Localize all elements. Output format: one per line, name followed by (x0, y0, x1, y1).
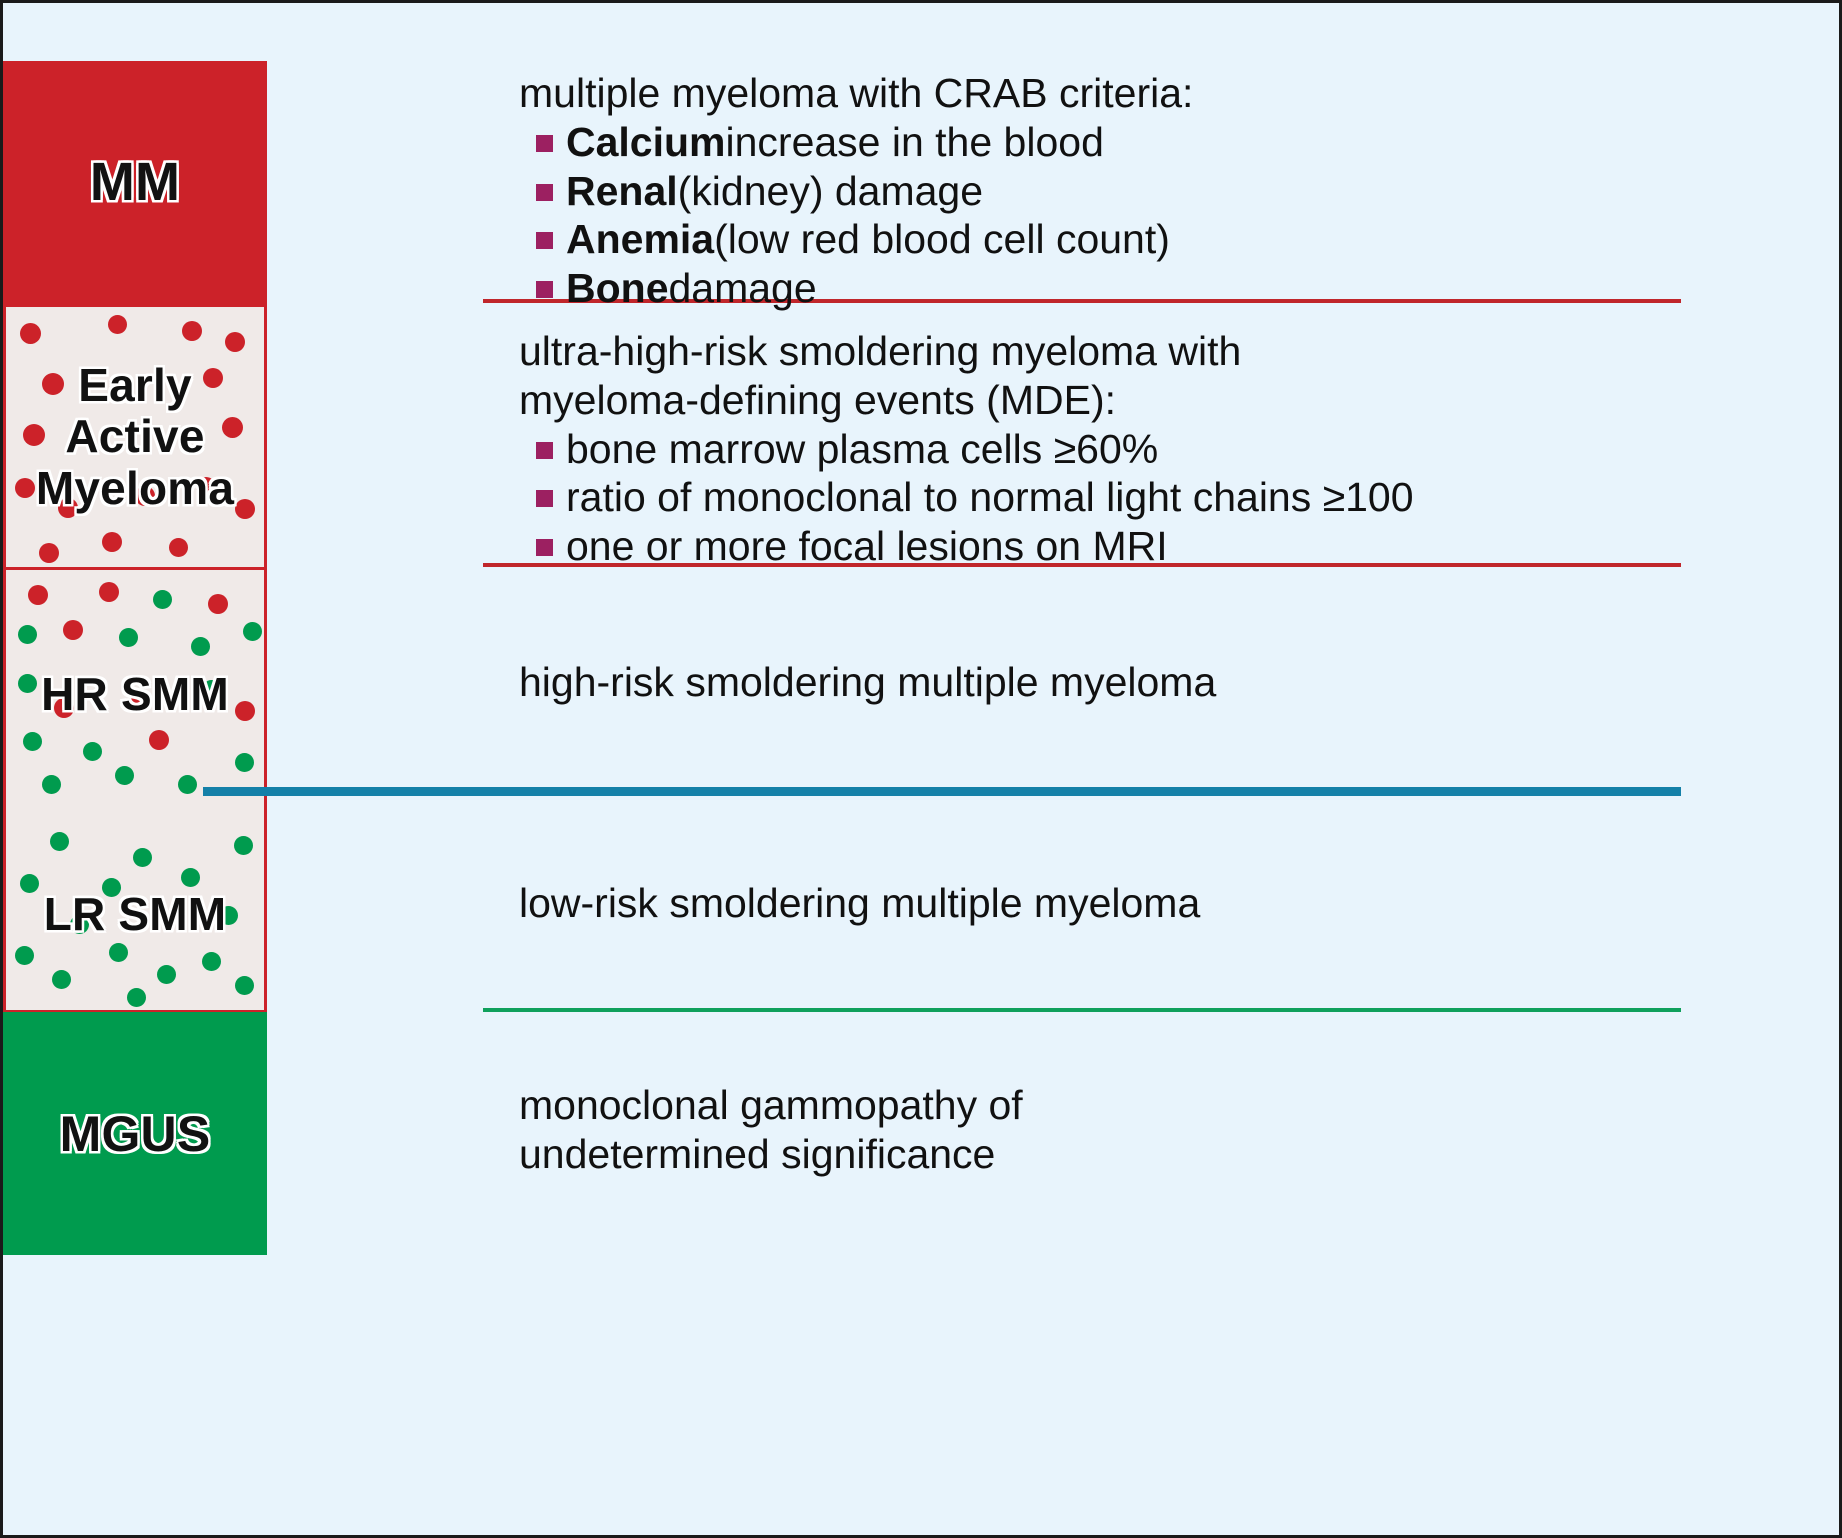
crab-bullet-calcium-text: increase in the blood (726, 118, 1104, 167)
description-mgus-line1: monoclonal gammopathy of (519, 1081, 1023, 1130)
crab-bullet-bone-term: Bone (566, 264, 669, 313)
stage-label-line: Early (36, 360, 234, 412)
divider-rule-risk-threshold (203, 787, 1681, 796)
description-mm: multiple myeloma with CRAB criteria: Cal… (519, 69, 1193, 313)
stage-block-hr-smm: HR SMM (3, 567, 267, 820)
bullet-square-icon (536, 232, 553, 249)
description-lr-smm: low-risk smoldering multiple myeloma (519, 879, 1200, 928)
crab-bullet-bone: Bone damage (519, 264, 1193, 313)
bullet-square-icon (536, 184, 553, 201)
bullet-square-icon (536, 490, 553, 507)
stage-label-early-active-myeloma: Early Active Myeloma (36, 360, 234, 515)
stage-label-line: Myeloma (36, 463, 234, 515)
description-heading-mm: multiple myeloma with CRAB criteria: (519, 69, 1193, 118)
crab-bullet-anemia-text: (low red blood cell count) (714, 215, 1170, 264)
mde-bullet-focal-lesions-text: one or more focal lesions on MRI (566, 522, 1168, 571)
mde-bullet-focal-lesions: one or more focal lesions on MRI (519, 522, 1414, 571)
description-heading-eam-line2: myeloma-defining events (MDE): (519, 376, 1414, 425)
description-early-active-myeloma: ultra-high-risk smoldering myeloma with … (519, 327, 1414, 571)
mde-bullet-plasma-cells: bone marrow plasma cells ≥60% (519, 425, 1414, 474)
stage-block-mgus: MGUS (3, 1012, 267, 1255)
bullet-square-icon (536, 539, 553, 556)
crab-bullet-calcium-term: Calcium (566, 118, 726, 167)
crab-bullet-anemia: Anemia (low red blood cell count) (519, 215, 1193, 264)
bullet-square-icon (536, 281, 553, 298)
stage-label-mgus: MGUS (60, 1106, 211, 1162)
crab-bullet-bone-text: damage (669, 264, 817, 313)
description-mgus: monoclonal gammopathy of undetermined si… (519, 1081, 1023, 1179)
stage-label-mm: MM (90, 152, 180, 212)
stage-label-hr-smm: HR SMM (41, 669, 229, 721)
description-heading-eam-line1: ultra-high-risk smoldering myeloma with (519, 327, 1414, 376)
diagram-canvas: MM multiple myeloma with CRAB criteria: … (0, 0, 1842, 1538)
bullet-square-icon (536, 442, 553, 459)
stage-label-line: Active (36, 411, 234, 463)
crab-bullet-calcium: Calcium increase in the blood (519, 118, 1193, 167)
mde-bullet-light-chains-text: ratio of monoclonal to normal light chai… (566, 473, 1414, 522)
stage-label-lr-smm: LR SMM (44, 889, 227, 941)
description-mgus-line2: undetermined significance (519, 1130, 1023, 1179)
description-lr-smm-text: low-risk smoldering multiple myeloma (519, 879, 1200, 928)
crab-bullet-renal: Renal (kidney) damage (519, 167, 1193, 216)
mde-bullet-light-chains: ratio of monoclonal to normal light chai… (519, 473, 1414, 522)
divider-rule-mgus-top (483, 1008, 1681, 1012)
crab-bullet-anemia-term: Anemia (566, 215, 714, 264)
stage-block-lr-smm: LR SMM (3, 820, 267, 1013)
crab-bullet-renal-term: Renal (566, 167, 678, 216)
description-hr-smm-text: high-risk smoldering multiple myeloma (519, 658, 1216, 707)
mde-bullet-plasma-cells-text: bone marrow plasma cells ≥60% (566, 425, 1158, 474)
stage-block-mm: MM (3, 61, 267, 304)
description-hr-smm: high-risk smoldering multiple myeloma (519, 658, 1216, 707)
crab-bullet-renal-text: (kidney) damage (678, 167, 983, 216)
stage-block-early-active-myeloma: Early Active Myeloma (3, 304, 267, 567)
bullet-square-icon (536, 135, 553, 152)
